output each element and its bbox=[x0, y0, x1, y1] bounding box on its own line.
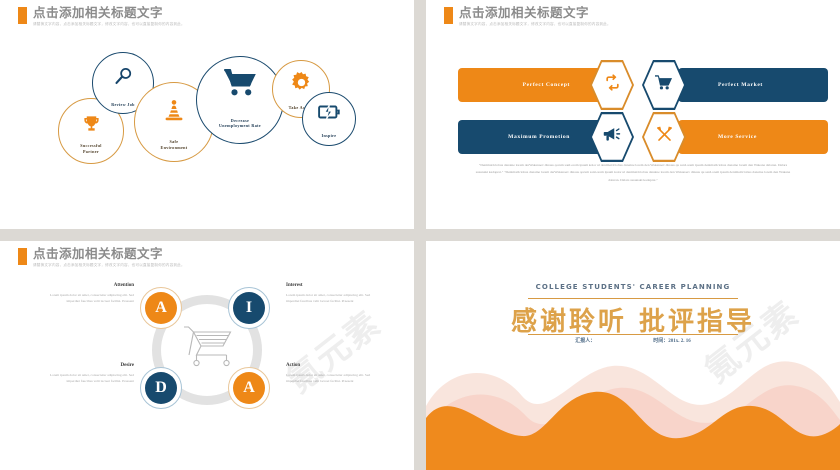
aida-node-attention[interactable]: A bbox=[140, 287, 182, 329]
item-label: More Service bbox=[678, 120, 828, 154]
aida-body: Lorem ipsum dolor sit amet, consectetur … bbox=[42, 292, 134, 304]
aida-body: Lorem ipsum dolor sit amet, consectetur … bbox=[42, 372, 134, 384]
slide-thanks[interactable]: COLLEGE STUDENTS' CAREER PLANNING 感谢聆听 批… bbox=[426, 241, 840, 470]
megaphone-icon bbox=[603, 125, 621, 148]
item-maximum-promotion[interactable]: Maximum Promotion bbox=[458, 120, 608, 154]
item-perfect-concept[interactable]: Perfect Concept bbox=[458, 68, 608, 102]
aida-body: Lorem ipsum dolor sit amet, consectetur … bbox=[286, 372, 378, 384]
gear-icon bbox=[291, 72, 312, 98]
item-more-service[interactable]: More Service bbox=[656, 120, 828, 154]
circle-decrease-unemployment-rate[interactable]: DecreaseUnemployment Rate bbox=[196, 56, 284, 144]
circle-label: SuccessfulPartner bbox=[63, 143, 118, 154]
retweet-icon bbox=[604, 74, 621, 96]
slide-header: 点击添加相关标题文字 请替换文字内容，点击添加相关标题文字，修改文字内容，也可以… bbox=[444, 6, 826, 27]
page-title: 点击添加相关标题文字 bbox=[33, 6, 400, 20]
aida-text-attention: Attention Lorem ipsum dolor sit amet, co… bbox=[42, 283, 134, 304]
divider-bottom bbox=[528, 334, 738, 335]
divider-top bbox=[528, 298, 738, 299]
slide-deck: 点击添加相关标题文字 请替换文字内容，点击添加相关标题文字，修改文字内容，也可以… bbox=[0, 0, 840, 470]
body-paragraph: "DenimaOctobus danaine lorem derWakanaev… bbox=[474, 162, 792, 184]
aida-node-action[interactable]: A bbox=[228, 367, 270, 409]
item-perfect-market[interactable]: Perfect Market bbox=[656, 68, 828, 102]
shopping-cart-icon bbox=[223, 69, 257, 102]
wave-decoration bbox=[426, 340, 840, 470]
shopping-cart-outline-icon bbox=[182, 323, 234, 374]
aida-text-desire: Desire Lorem ipsum dolor sit amet, conse… bbox=[42, 363, 134, 384]
page-subtitle: 请替换文字内容，点击添加相关标题文字，修改文字内容，也可以直接复制你的内容到此。 bbox=[33, 263, 400, 268]
date-label: 时间：201x. 2. 16 bbox=[653, 337, 691, 344]
thanks-title: 感谢聆听 批评指导 bbox=[426, 301, 840, 338]
battery-bolt-icon bbox=[318, 103, 340, 126]
traffic-cone-icon bbox=[162, 99, 186, 128]
header-accent-bar bbox=[444, 7, 453, 24]
circle-inspire[interactable]: Inspire bbox=[302, 92, 356, 146]
cart-icon bbox=[655, 74, 673, 95]
item-label: Perfect Concept bbox=[458, 68, 608, 102]
aida-node-interest[interactable]: I bbox=[228, 287, 270, 329]
circle-label: DecreaseUnemployment Rate bbox=[203, 118, 277, 129]
tools-icon bbox=[656, 126, 673, 148]
page-title: 点击添加相关标题文字 bbox=[459, 6, 826, 20]
aida-body: Lorem ipsum dolor sit amet, consectetur … bbox=[286, 292, 378, 304]
slide-aida[interactable]: 点击添加相关标题文字 请替换文字内容，点击添加相关标题文字，修改文字内容，也可以… bbox=[0, 241, 414, 470]
presentation-meta: 汇报人： 时间：201x. 2. 16 bbox=[426, 337, 840, 344]
item-label: Perfect Market bbox=[678, 68, 828, 102]
aida-title: Interest bbox=[286, 283, 378, 288]
aida-title: Attention bbox=[42, 283, 134, 288]
page-subtitle: 请替换文字内容，点击添加相关标题文字，修改文字内容，也可以直接复制你的内容到此。 bbox=[459, 22, 826, 27]
hex-banner-grid: Perfect Concept bbox=[426, 28, 840, 158]
page-title: 点击添加相关标题文字 bbox=[33, 247, 400, 261]
aida-diagram: A I D A Attention Lorem ipsum dolor sit … bbox=[0, 287, 414, 427]
circle-chain: SuccessfulPartner Review Job bbox=[0, 30, 414, 220]
slide-header: 点击添加相关标题文字 请替换文字内容，点击添加相关标题文字，修改文字内容，也可以… bbox=[18, 6, 400, 27]
presenter-label: 汇报人： bbox=[575, 337, 595, 344]
trophy-icon bbox=[82, 114, 101, 138]
circle-label: Inspire bbox=[307, 133, 352, 138]
aida-letter: I bbox=[233, 292, 265, 324]
slide-header: 点击添加相关标题文字 请替换文字内容，点击添加相关标题文字，修改文字内容，也可以… bbox=[18, 247, 400, 268]
aida-node-desire[interactable]: D bbox=[140, 367, 182, 409]
magnifier-icon bbox=[113, 66, 134, 92]
circle-label: SafeEnvironment bbox=[140, 139, 207, 150]
slide-circles[interactable]: 点击添加相关标题文字 请替换文字内容，点击添加相关标题文字，修改文字内容，也可以… bbox=[0, 0, 414, 229]
aida-text-action: Action Lorem ipsum dolor sit amet, conse… bbox=[286, 363, 378, 384]
header-accent-bar bbox=[18, 7, 27, 24]
aida-letter: D bbox=[145, 372, 177, 404]
page-subtitle: 请替换文字内容，点击添加相关标题文字，修改文字内容，也可以直接复制你的内容到此。 bbox=[33, 22, 400, 27]
aida-title: Action bbox=[286, 363, 378, 368]
item-label: Maximum Promotion bbox=[458, 120, 608, 154]
aida-text-interest: Interest Lorem ipsum dolor sit amet, con… bbox=[286, 283, 378, 304]
header-accent-bar bbox=[18, 248, 27, 265]
aida-title: Desire bbox=[42, 363, 134, 368]
slide-hexbanners[interactable]: 点击添加相关标题文字 请替换文字内容，点击添加相关标题文字，修改文字内容，也可以… bbox=[426, 0, 840, 229]
eyebrow-text: COLLEGE STUDENTS' CAREER PLANNING bbox=[426, 283, 840, 291]
aida-letter: A bbox=[145, 292, 177, 324]
aida-letter: A bbox=[233, 372, 265, 404]
